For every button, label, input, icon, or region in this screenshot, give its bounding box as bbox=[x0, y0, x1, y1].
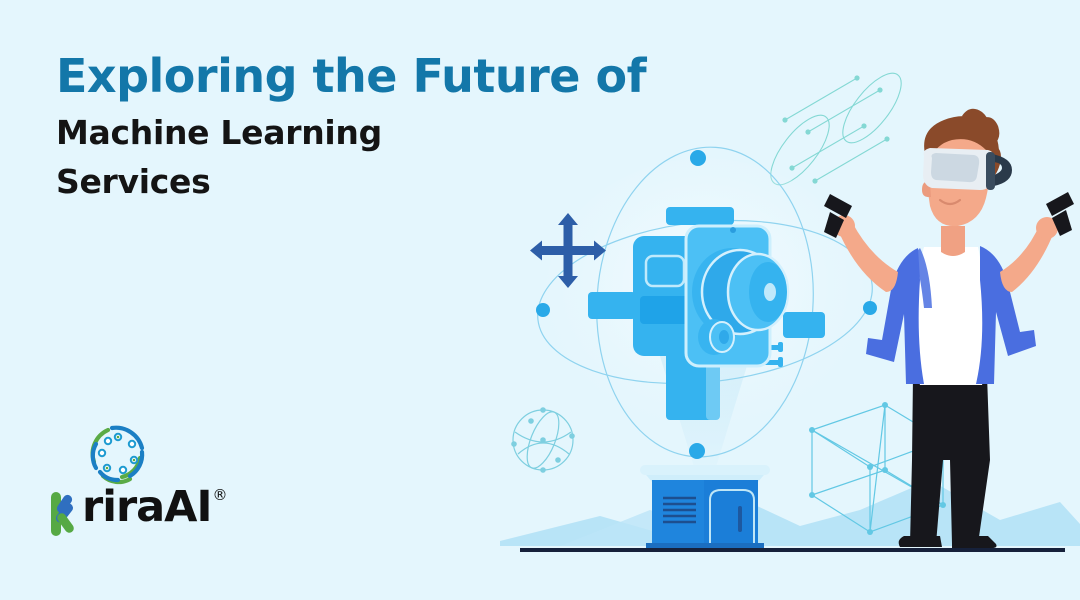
logo-wordmark-text: riraAI bbox=[82, 486, 211, 529]
banner-root: Exploring the Future of Machine Learning… bbox=[0, 0, 1080, 600]
orbit-node-right bbox=[863, 301, 877, 315]
orbit-node-left bbox=[536, 303, 550, 317]
projector-base-unit bbox=[640, 465, 770, 551]
orbit-node-bottom bbox=[689, 443, 705, 459]
wireframe-cylinder-icon bbox=[761, 64, 912, 193]
krira-wordmark: riraAI ® bbox=[48, 486, 227, 540]
ground-line bbox=[520, 548, 1065, 552]
mountain-backdrop bbox=[500, 480, 1080, 546]
person-neck bbox=[941, 226, 965, 256]
brand-logo[interactable]: riraAI ® bbox=[48, 414, 278, 544]
hero-illustration bbox=[500, 40, 1080, 580]
wireframe-sphere-icon bbox=[511, 407, 575, 473]
logo-letter-k-icon bbox=[48, 486, 84, 538]
vr-person bbox=[824, 109, 1074, 548]
person-right-arm bbox=[1000, 217, 1058, 292]
orbit-node-top bbox=[690, 150, 706, 166]
registered-trademark-icon: ® bbox=[212, 488, 227, 503]
